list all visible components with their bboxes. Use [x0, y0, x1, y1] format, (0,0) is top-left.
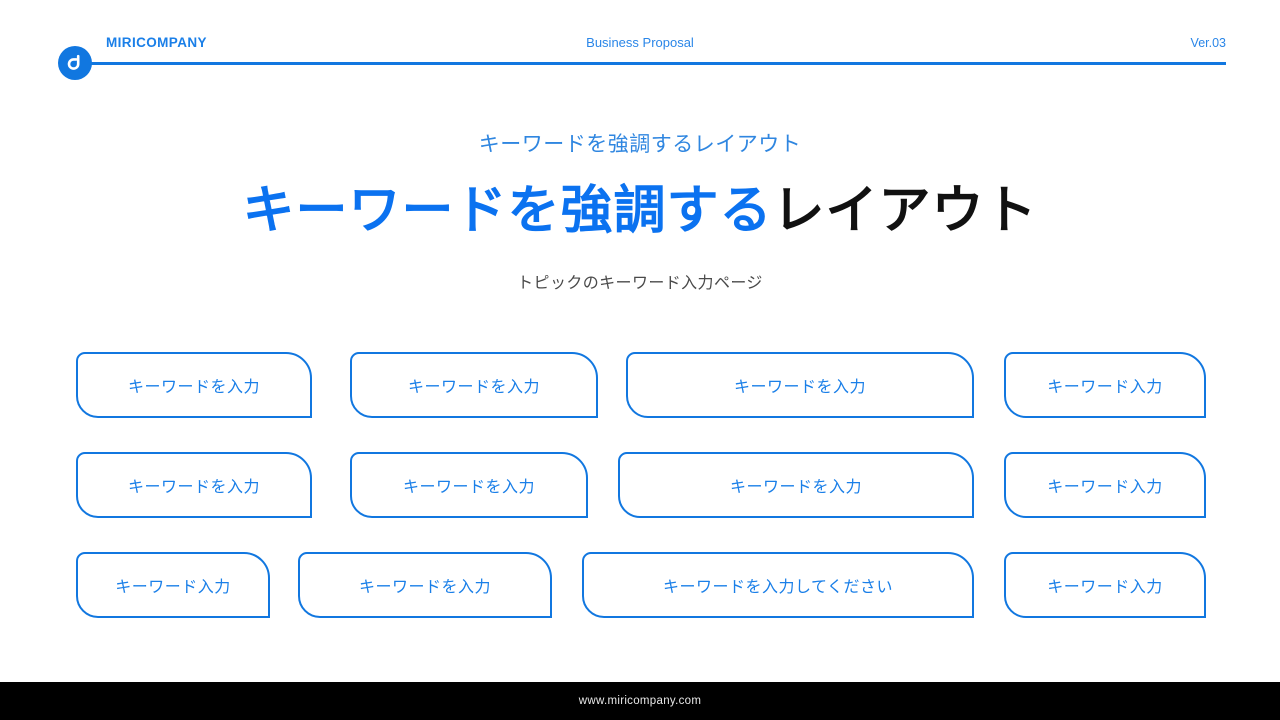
keyword-box[interactable]: キーワードを入力	[350, 352, 598, 418]
keyword-box[interactable]: キーワードを入力してください	[582, 552, 974, 618]
page-title: キーワードを強調するレイアウト	[0, 182, 1280, 240]
keyword-box[interactable]: キーワードを入力	[298, 552, 552, 618]
keyword-grid: キーワードを入力 キーワードを入力 キーワードを入力 キーワード入力 キーワード…	[0, 352, 1280, 652]
keyword-box[interactable]: キーワードを入力	[76, 352, 312, 418]
keyword-box[interactable]: キーワードを入力	[618, 452, 974, 518]
page-subtitle: トピックのキーワード入力ページ	[0, 269, 1280, 293]
footer-url: www.miricompany.com	[579, 695, 701, 707]
keyword-row: キーワードを入力 キーワードを入力 キーワードを入力 キーワード入力	[0, 352, 1280, 452]
header-divider-rule	[80, 62, 1226, 65]
keyword-box[interactable]: キーワード入力	[1004, 352, 1206, 418]
slide-header: MIRICOMPANY Business Proposal Ver.03	[0, 0, 1280, 92]
keyword-box[interactable]: キーワード入力	[76, 552, 270, 618]
title-block: キーワードを強調するレイアウト キーワードを強調するレイアウト トピックのキーワ…	[0, 132, 1280, 293]
keyword-row: キーワードを入力 キーワードを入力 キーワードを入力 キーワード入力	[0, 452, 1280, 552]
page-title-accent: キーワードを強調する	[242, 182, 772, 240]
keyword-box[interactable]: キーワード入力	[1004, 552, 1206, 618]
deck-title: Business Proposal	[0, 35, 1280, 50]
keyword-row: キーワード入力 キーワードを入力 キーワードを入力してください キーワード入力	[0, 552, 1280, 652]
version-label: Ver.03	[1191, 36, 1226, 50]
eyebrow-text: キーワードを強調するレイアウト	[0, 132, 1280, 158]
keyword-box[interactable]: キーワードを入力	[350, 452, 588, 518]
keyword-box[interactable]: キーワードを入力	[626, 352, 974, 418]
page-title-plain: レイアウト	[773, 182, 1038, 240]
slide-footer: www.miricompany.com	[0, 682, 1280, 720]
keyword-box[interactable]: キーワードを入力	[76, 452, 312, 518]
keyword-box[interactable]: キーワード入力	[1004, 452, 1206, 518]
